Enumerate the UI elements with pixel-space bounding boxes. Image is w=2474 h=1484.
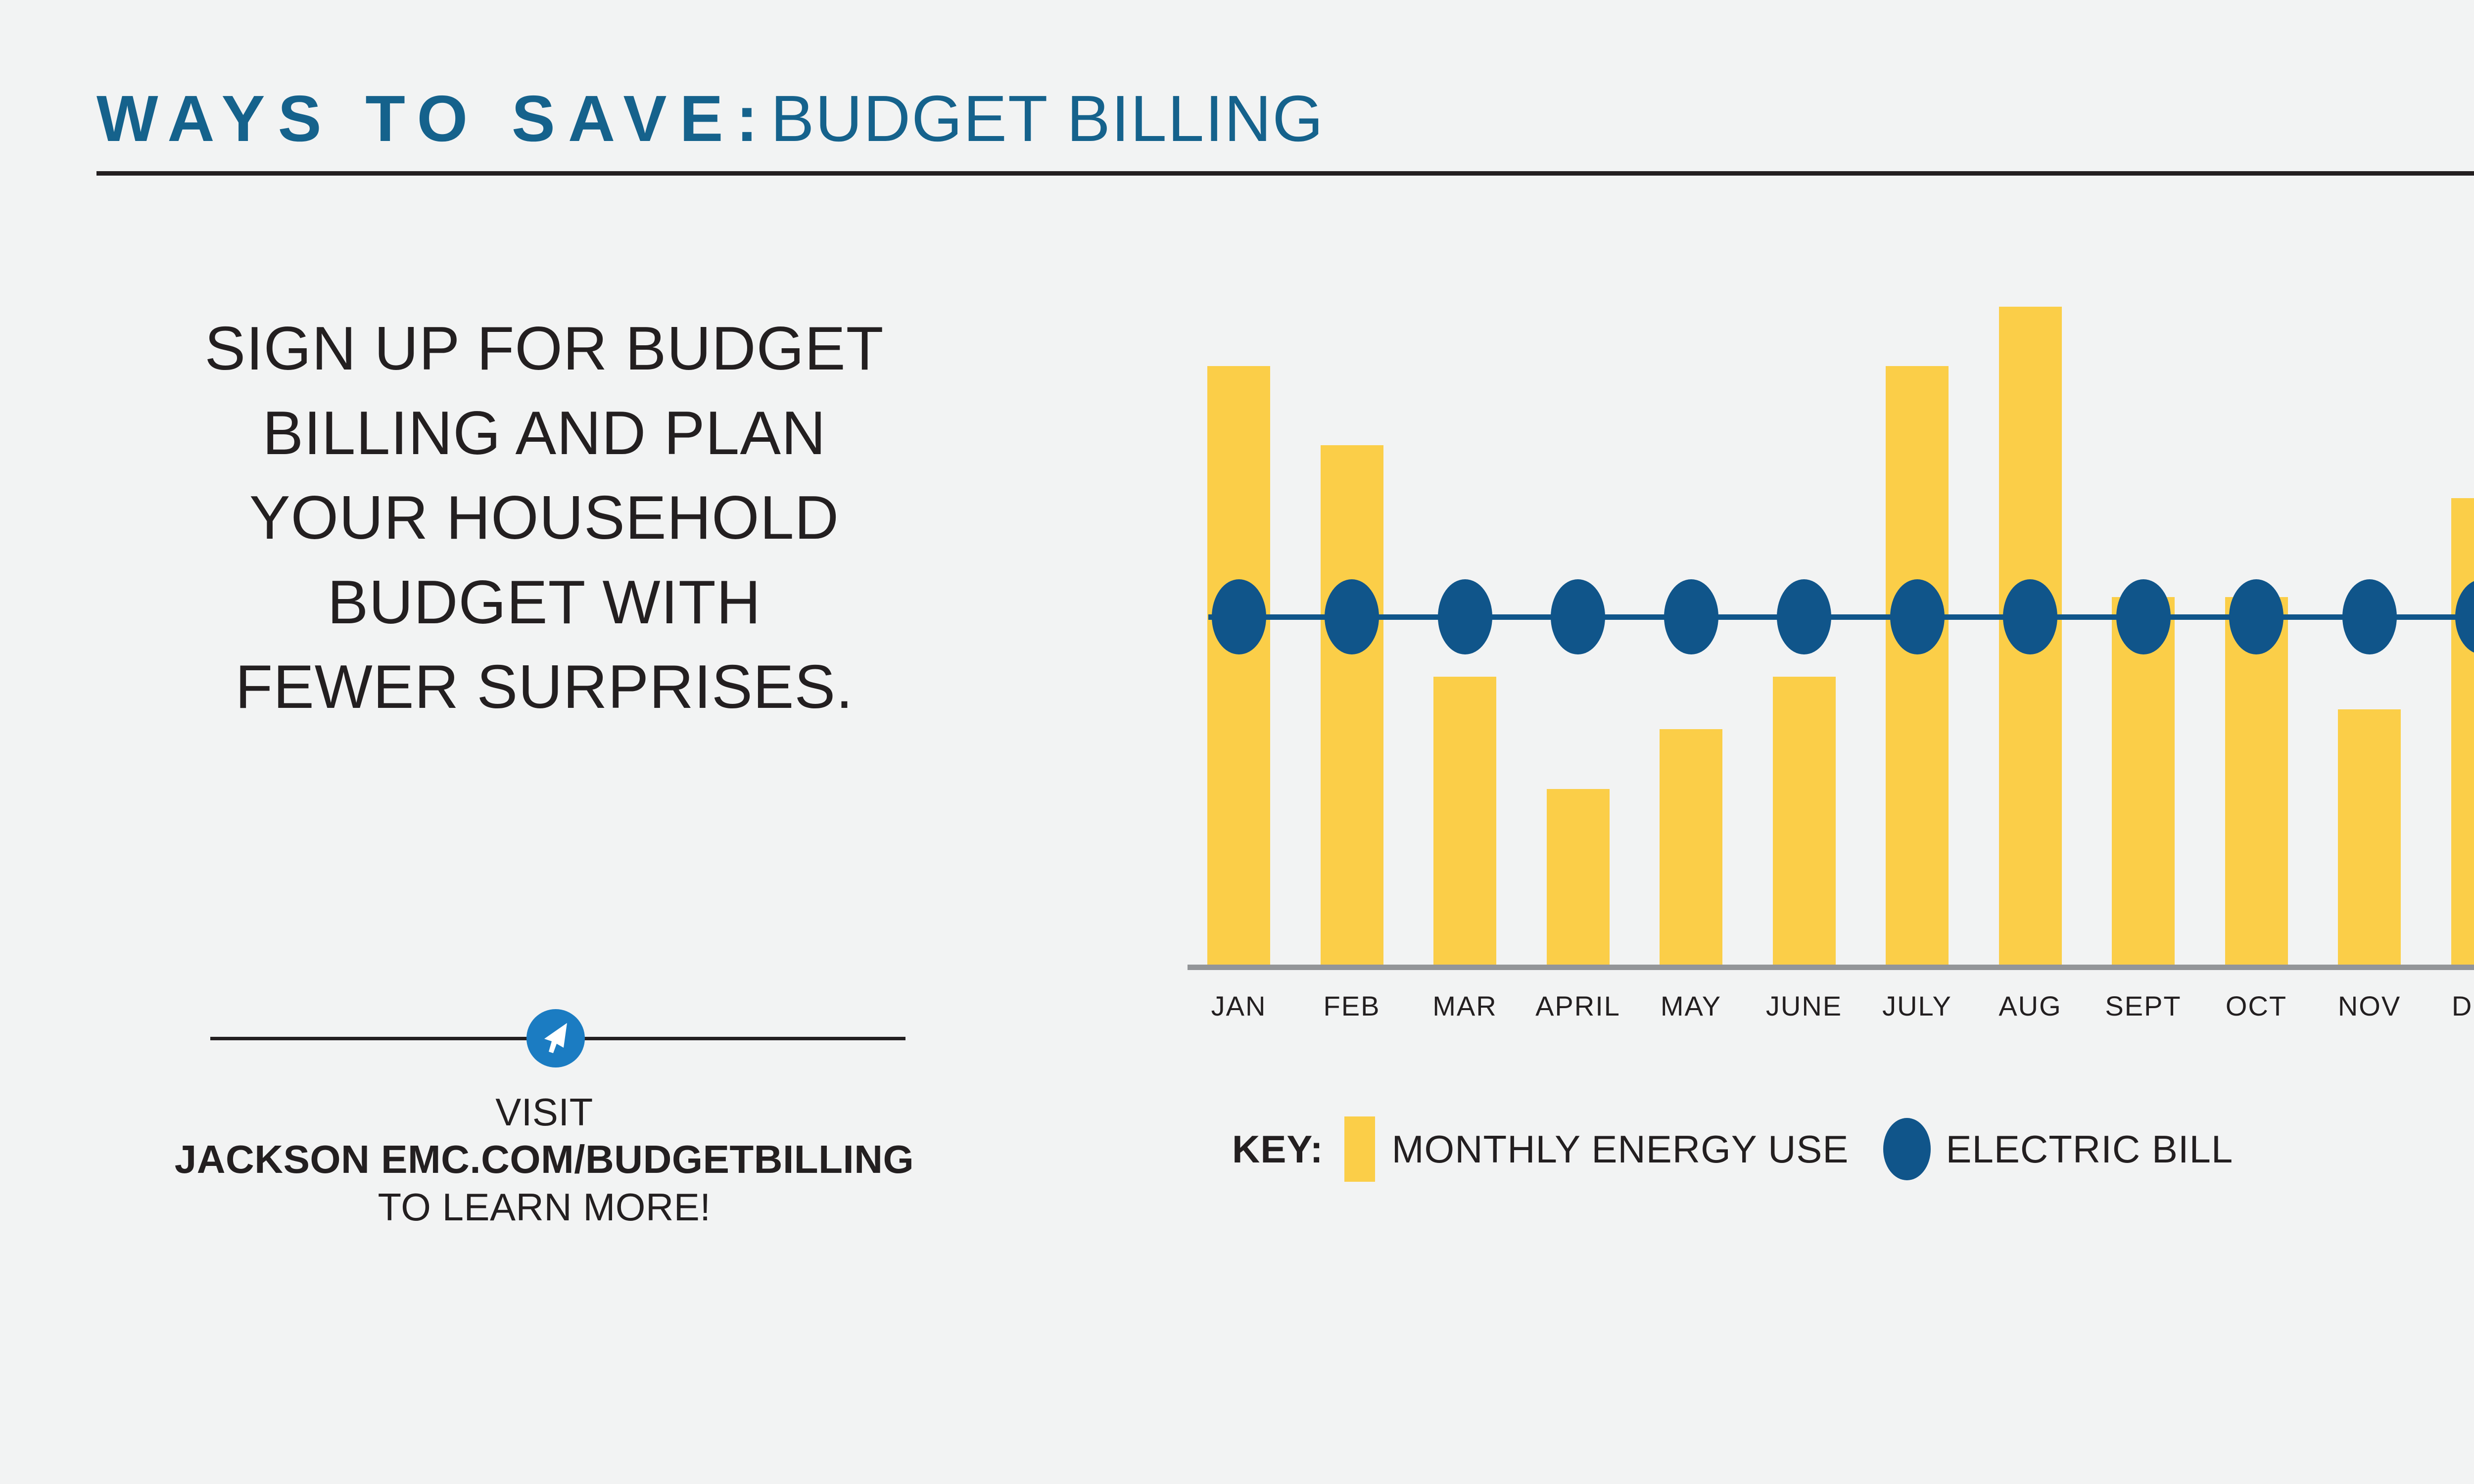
x-label-nov: NOV — [2305, 989, 2434, 1023]
legend-item-electric-bill: ELECTRIC BILL — [1883, 1118, 2233, 1180]
x-label-feb: FEB — [1287, 989, 1416, 1023]
header-divider — [96, 171, 2474, 176]
x-label-jan: JAN — [1175, 989, 1303, 1023]
chart-baseline-axis — [1188, 965, 2474, 970]
left-column: SIGN UP FOR BUDGET BILLING AND PLAN YOUR… — [79, 307, 1009, 730]
x-label-april: APRIL — [1514, 989, 1642, 1023]
cursor-pointer-icon — [526, 1009, 585, 1067]
x-label-may: MAY — [1627, 989, 1756, 1023]
legend-label-monthly-energy-use: MONTHLY ENERGY USE — [1392, 1127, 1849, 1172]
bar-jan — [1207, 366, 1270, 967]
headline-line-4: BUDGET WITH — [79, 560, 1009, 645]
legend-dot-swatch-icon — [1883, 1118, 1931, 1180]
chart-x-axis-labels: JANFEBMARAPRILMAYJUNEJULYAUGSEPTOCTNOVDE… — [1188, 989, 2474, 1034]
x-label-sept: SEPT — [2079, 989, 2208, 1023]
x-label-june: JUNE — [1740, 989, 1868, 1023]
energy-chart: JANFEBMARAPRILMAYJUNEJULYAUGSEPTOCTNOVDE… — [1188, 307, 2474, 1148]
legend-key-label: KEY: — [1232, 1127, 1324, 1172]
legend-label-electric-bill: ELECTRIC BILL — [1946, 1127, 2233, 1172]
legend-item-monthly-energy-use: MONTHLY ENERGY USE — [1344, 1116, 1849, 1182]
bar-mar — [1433, 677, 1496, 967]
cta-divider-group — [210, 1009, 905, 1068]
headline-line-5: FEWER SURPRISES. — [79, 645, 1009, 730]
x-label-aug: AUG — [1966, 989, 2094, 1023]
bar-oct — [2225, 597, 2288, 967]
bar-feb — [1321, 445, 1383, 967]
bar-july — [1886, 366, 1949, 967]
x-label-oct: OCT — [2192, 989, 2321, 1023]
bar-nov — [2338, 709, 2401, 967]
title-strong-part: WAYS TO SAVE: — [96, 82, 770, 155]
header: WAYS TO SAVE:BUDGET BILLING — [96, 74, 2474, 178]
bar-april — [1547, 789, 1610, 967]
title-light-part: BUDGET BILLING — [770, 82, 1324, 155]
page-title: WAYS TO SAVE:BUDGET BILLING — [96, 74, 1324, 163]
bar-aug — [1999, 307, 2062, 967]
chart-legend: KEY: MONTHLY ENERGY USE ELECTRIC BILL — [1232, 1107, 2233, 1191]
chart-plot-area — [1188, 307, 2474, 967]
cta-line-visit: VISIT — [79, 1088, 1009, 1136]
x-label-mar: MAR — [1401, 989, 1529, 1023]
bar-may — [1660, 729, 1722, 967]
bar-dec — [2451, 498, 2474, 967]
headline: SIGN UP FOR BUDGET BILLING AND PLAN YOUR… — [79, 307, 1009, 730]
bar-sept — [2112, 597, 2175, 967]
infographic-canvas: WAYS TO SAVE:BUDGET BILLING SIGN UP FOR … — [0, 0, 2474, 1484]
cta-line-learn-more: TO LEARN MORE! — [79, 1183, 1009, 1231]
legend-bar-swatch-icon — [1344, 1116, 1375, 1182]
headline-line-1: SIGN UP FOR BUDGET — [79, 307, 1009, 391]
headline-line-3: YOUR HOUSEHOLD — [79, 476, 1009, 560]
headline-line-2: BILLING AND PLAN — [79, 391, 1009, 476]
x-label-july: JULY — [1853, 989, 1982, 1023]
x-label-dec: DEC — [2418, 989, 2474, 1023]
bar-june — [1773, 677, 1836, 967]
cta-line-url: JACKSON EMC.COM/BUDGETBILLING — [79, 1136, 1009, 1183]
cta-text-block: VISIT JACKSON EMC.COM/BUDGETBILLING TO L… — [79, 1088, 1009, 1231]
